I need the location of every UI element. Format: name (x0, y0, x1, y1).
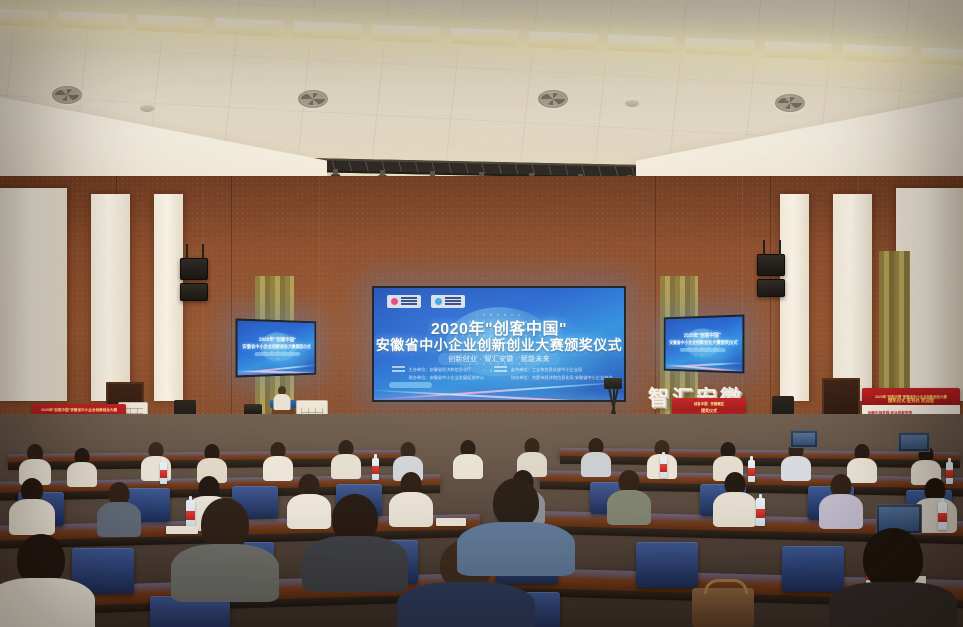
audience-member-front-grey (170, 498, 280, 598)
audience-member (818, 474, 864, 528)
person-body (331, 454, 361, 479)
side-screen-title-line1: 2020年"创客中国" (238, 335, 315, 343)
ceiling-sensor (140, 105, 154, 112)
screen-logo-group (387, 295, 465, 308)
speaker-cabinet (757, 279, 785, 297)
screen-meta-right: 支持单位：工业和信息化部中小企业局 协办单位：合肥市经济和信息化局 安徽省中小企… (494, 366, 613, 382)
ceiling-lamp (0, 8, 49, 27)
person-body (453, 454, 483, 479)
logo-wordmark (445, 297, 461, 305)
audience-member (330, 440, 362, 478)
audience-member-front-left (0, 534, 96, 627)
person-body (0, 578, 95, 627)
meta-line: 支持单位：工业和信息化部中小企业局 (511, 366, 613, 374)
ceiling-sensor (625, 100, 639, 107)
audience-member (606, 470, 652, 524)
ceiling-air-vent (298, 90, 328, 108)
audience-member (8, 478, 56, 534)
side-screen-title-line2: 安徽省中小企业创新创业大赛颁奖仪式 (238, 344, 315, 350)
speaker-rigging (186, 244, 205, 259)
conference-hall-photo: 2020年"创客中国" 安徽省中小企业创新创业大赛颁奖仪式 创新创业 · 智汇安… (0, 0, 963, 627)
ceiling-lamp (136, 15, 205, 34)
audience-member (66, 448, 98, 486)
ceiling-lamp (450, 28, 519, 47)
water-bottle (748, 460, 755, 482)
light-ribbon-graphic (664, 352, 745, 374)
logo-mark (391, 298, 398, 305)
person-body (397, 582, 535, 627)
side-led-screen-left: 2020年"创客中国" 安徽省中小企业创新创业大赛颁奖仪式 (236, 318, 317, 377)
person-body (457, 522, 575, 576)
banner-stage-head: 创客中国 · 安徽赛区 (672, 401, 746, 406)
person-head (863, 528, 923, 590)
screen-meta-row: 主办单位：安徽省经济和信息化厅 承办单位：安徽省中小企业发展促进中心 支持单位：… (392, 366, 607, 382)
water-bottle (372, 458, 379, 480)
host-speaker (272, 386, 292, 410)
anhui-jingxin-logo (431, 295, 465, 308)
person-body (781, 456, 811, 481)
screen-accent-bar (389, 382, 432, 388)
speaker-body (274, 394, 291, 410)
ceiling-lamp (842, 44, 911, 63)
meta-label-grid (494, 366, 507, 382)
audience-member (140, 442, 172, 480)
water-bottle (946, 462, 953, 484)
wall-pillar-right-mid (780, 194, 809, 401)
wall-pillar-left-outer (0, 188, 67, 401)
water-bottle (160, 462, 167, 484)
person-body (67, 462, 97, 487)
laptop (898, 432, 930, 452)
ceiling-lamp (293, 21, 362, 40)
speaker-cabinet (180, 258, 208, 280)
side-screen-subtitle-bar (254, 352, 300, 356)
side-screen-subtitle-bar (680, 348, 726, 352)
audience-member (96, 482, 142, 536)
water-bottle (938, 502, 947, 530)
ceiling-lamp (58, 11, 127, 30)
main-led-screen: 2020年"创客中国" 安徽省中小企业创新创业大赛颁奖仪式 创新创业 · 智汇安… (372, 286, 626, 402)
banner-right-line2: 颁奖仪式 签到处 欢迎您 (862, 398, 960, 404)
person-body (607, 490, 651, 525)
person-body (97, 502, 141, 537)
line-array-speaker-right (757, 254, 783, 300)
laptop (790, 430, 818, 448)
meta-lines-right: 支持单位：工业和信息化部中小企业局 协办单位：合肥市经济和信息化局 安徽省中小企… (511, 366, 613, 382)
meta-label-grid (392, 366, 405, 382)
wall-pillar-left-mid (154, 194, 183, 401)
wall-pillar-left-inner (91, 194, 130, 401)
meta-lines-left: 主办单位：安徽省经济和信息化厅 承办单位：安徽省中小企业发展促进中心 (409, 366, 484, 382)
meta-line: 协办单位：合肥市经济和信息化局 安徽省中小企业协会 (511, 374, 613, 382)
light-ribbon-graphic (236, 356, 317, 378)
person-head (493, 478, 539, 528)
line-array-speaker-left (180, 258, 206, 304)
person-body (829, 582, 957, 627)
person-body (302, 536, 408, 592)
audience-chair (636, 542, 698, 588)
audience-member-front-dark (300, 494, 410, 588)
person-body (9, 499, 55, 535)
speaker-rigging (763, 240, 782, 255)
logo-mark (435, 298, 442, 305)
stage-letter: 智 (648, 388, 669, 409)
banner-left-head: 2020年"创客中国"安徽省中小企业创新创业大赛 (32, 408, 126, 413)
ceiling-air-vent (775, 94, 805, 112)
ceiling-lamp (764, 41, 833, 60)
speaker-cabinet (757, 254, 785, 276)
person-body (171, 544, 279, 602)
chuangke-zhongguo-logo (387, 295, 421, 308)
ceiling-lamp (685, 38, 754, 57)
audience-member (452, 440, 484, 478)
handbag (692, 588, 754, 627)
ceiling-lamp (372, 24, 441, 43)
water-bottle (756, 498, 765, 526)
person-body (819, 494, 863, 529)
ceiling-lamp (528, 31, 597, 50)
screen-meta-left: 主办单位：安徽省经济和信息化厅 承办单位：安徽省中小企业发展促进中心 (392, 366, 484, 382)
side-screen-title-line2: 安徽省中小企业创新创业大赛颁奖仪式 (665, 340, 742, 346)
ceiling-lamp (920, 47, 963, 66)
logo-wordmark (401, 297, 417, 305)
person-body (713, 492, 757, 527)
screen-subtitle: 创新创业 · 智汇安徽 · 赋能未来 (438, 353, 560, 365)
ceiling-air-vent (52, 86, 82, 104)
audience-member-front-blue-shirt (456, 478, 576, 572)
wall-pillar-right-inner (833, 194, 872, 401)
ceiling-lamp (607, 34, 676, 53)
side-led-screen-right: 2020年"创客中国" 安徽省中小企业创新创业大赛颁奖仪式 (664, 314, 745, 373)
ceiling-air-vent (538, 90, 568, 108)
meta-line: 主办单位：安徽省经济和信息化厅 (409, 366, 484, 374)
water-bottle (660, 456, 667, 478)
speaker-cabinet (180, 283, 208, 301)
audience-member-front-right (828, 528, 958, 627)
side-screen-title-line1: 2020年"创客中国" (665, 331, 742, 339)
ceiling-lamp (215, 18, 284, 37)
